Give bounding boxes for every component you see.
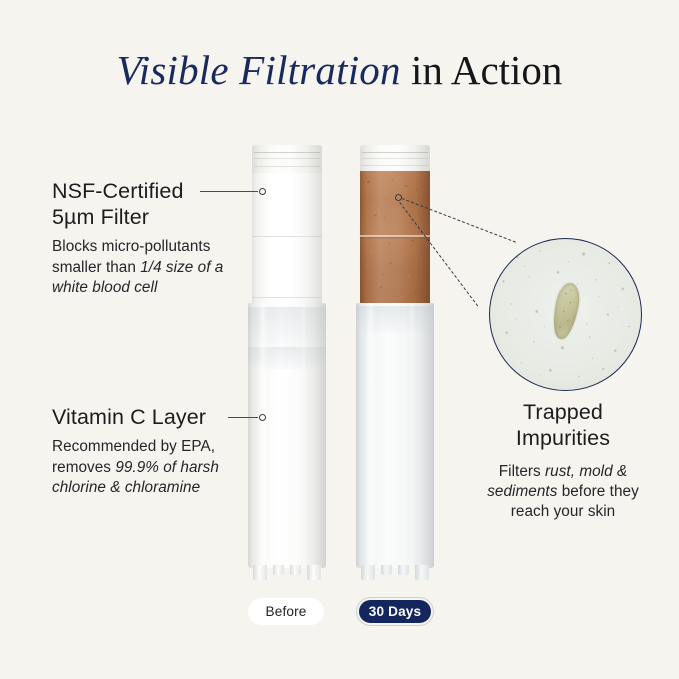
filter-cartridge-30days — [360, 145, 430, 580]
leader-dot-icon-vitamin-c — [259, 414, 266, 421]
filter-media-fouled — [360, 171, 430, 305]
title-rest: in Action — [401, 47, 563, 93]
leader-dot-icon-nsf — [259, 188, 266, 195]
filter-cartridge-before — [252, 145, 322, 580]
cartridge-cap-30days — [360, 145, 430, 173]
callout-nsf-body: Blocks micro-pollutants smaller than 1/4… — [52, 237, 257, 298]
callout-trapped-body-normal-1: Filters — [499, 463, 545, 480]
callout-nsf-certified: NSF-Certified 5µm Filter Blocks micro-po… — [52, 178, 257, 298]
callout-trapped-impurities: Trapped Impurities Filters rust, mold & … — [466, 400, 660, 523]
callout-nsf-heading-line2: 5µm Filter — [52, 205, 149, 229]
infographic-canvas: Visible Filtration in Action — [0, 0, 679, 679]
callout-trapped-body: Filters rust, mold & sediments before th… — [466, 462, 660, 523]
callout-vitamin-c-body: Recommended by EPA, removes 99.9% of har… — [52, 437, 240, 498]
title-emphasis: Visible Filtration — [117, 47, 401, 93]
page-title: Visible Filtration in Action — [0, 50, 679, 91]
magnified-impurities-view — [489, 238, 642, 391]
callout-vitamin-c-heading: Vitamin C Layer — [52, 404, 240, 430]
callout-trapped-heading-line2: Impurities — [516, 426, 610, 450]
cartridge-cap-before — [252, 145, 322, 175]
cartridge-feet-30days — [356, 565, 434, 581]
label-pill-before[interactable]: Before — [248, 598, 324, 625]
callout-nsf-heading: NSF-Certified 5µm Filter — [52, 178, 257, 230]
zoom-target-dot-icon — [395, 194, 402, 201]
callout-nsf-heading-line1: NSF-Certified — [52, 179, 184, 203]
cartridge-housing-before — [248, 303, 326, 568]
callout-trapped-heading-line1: Trapped — [523, 400, 603, 424]
callout-vitamin-c: Vitamin C Layer Recommended by EPA, remo… — [52, 404, 240, 498]
cartridge-housing-30days — [356, 303, 434, 568]
callout-trapped-heading: Trapped Impurities — [466, 400, 660, 452]
label-pill-30-days[interactable]: 30 Days — [357, 598, 433, 625]
cartridge-feet-before — [248, 565, 326, 581]
